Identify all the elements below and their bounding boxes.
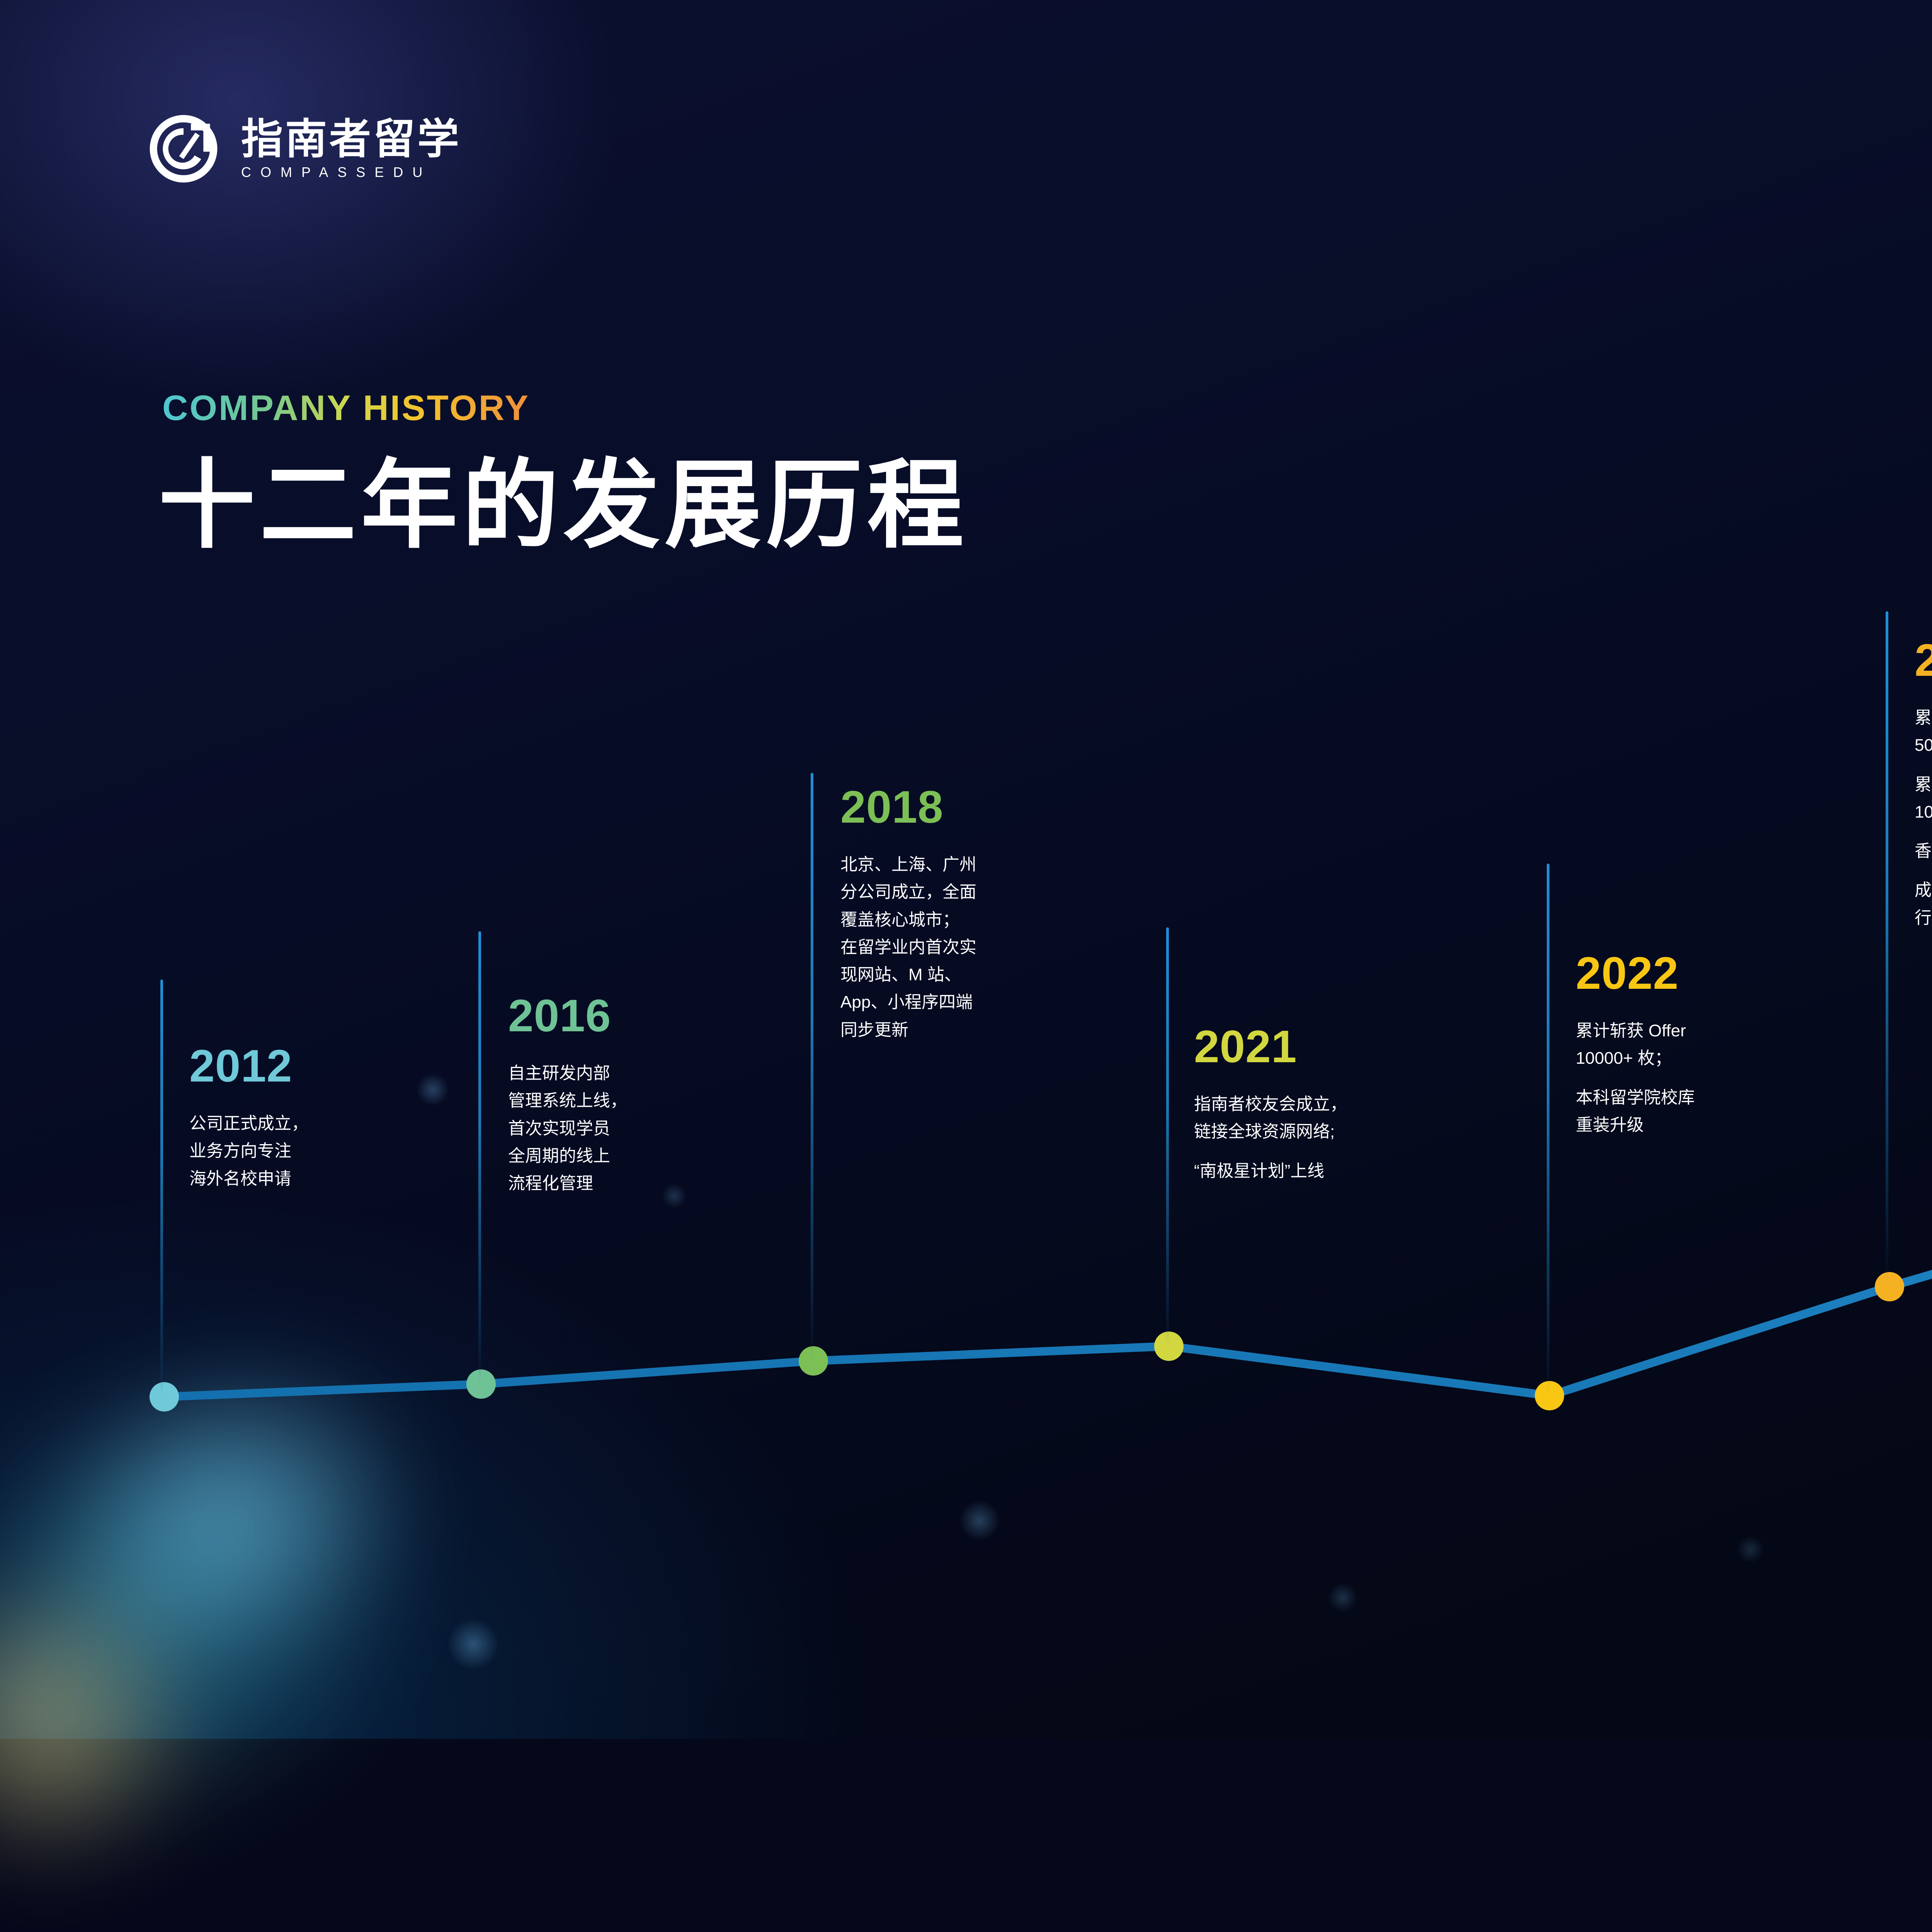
milestone-year-2022: 2022 (1576, 951, 1695, 996)
milestone-text-line: 50 万 + 人； (1915, 731, 1932, 759)
paragraph-gap (1576, 1072, 1695, 1084)
milestone-text-line: 成为北京留学服务 (1915, 876, 1932, 904)
milestone-year-2021: 2021 (1194, 1024, 1347, 1070)
star-spark (1731, 1530, 1770, 1569)
milestone-text-line: 北京、上海、广州 (840, 851, 976, 878)
milestone-text-line: 全周期的线上 (508, 1142, 627, 1170)
milestone-body: 2022 累计斩获 Offer10000+ 枚；本科留学院校库重装升级 (1576, 951, 1695, 1139)
chart-marker-2018[interactable] (799, 1346, 828, 1376)
section-eyebrow: COMPANY HISTORY (162, 390, 530, 426)
brand-name-en: COMPASSEDU (241, 165, 461, 179)
chart-marker-2016[interactable] (466, 1369, 496, 1399)
star-spark (657, 1179, 692, 1213)
paragraph-gap (1915, 826, 1932, 837)
milestone-description-2022: 累计斩获 Offer10000+ 枚；本科留学院校库重装升级 (1576, 1017, 1695, 1139)
milestone-description-2012: 公司正式成立，业务方向专注海外名校申请 (189, 1110, 308, 1192)
chart-marker-2021[interactable] (1154, 1332, 1184, 1361)
milestone-year-2012: 2012 (189, 1043, 308, 1089)
milestone-text-line: 同步更新 (840, 1016, 976, 1044)
milestone-text-line: 指南者校友会成立， (1194, 1090, 1347, 1118)
paragraph-gap (1194, 1146, 1347, 1157)
brand-logo: 指南者留学 COMPASSEDU (147, 112, 461, 185)
milestone-text-line: 业务方向专注 (189, 1137, 308, 1165)
milestone-year-2018: 2018 (840, 784, 976, 830)
milestone-text-line: 累计服务人数突破 (1915, 771, 1932, 798)
milestone-text-line: 在留学业内首次实 (840, 934, 976, 961)
milestone-connector-rule-2022 (1547, 864, 1549, 1396)
milestone-body: 2016 自主研发内部管理系统上线，首次实现学员全周期的线上流程化管理 (508, 993, 627, 1197)
milestone-text-line: 分公司成立，全面 (840, 878, 976, 906)
aurora-glow-bottom-left (0, 1222, 605, 1932)
milestone-text-line: 累计注册用户突破 (1915, 704, 1932, 731)
milestone-text-line: 10000+ 枚； (1576, 1044, 1695, 1072)
milestone-text-line: 首次实现学员 (508, 1115, 627, 1142)
brand-name-cn: 指南者留学 (241, 118, 461, 160)
milestone-text-line: 行业协会会员单位 (1915, 904, 1932, 932)
milestone-body: 2021 指南者校友会成立，链接全球资源网络;“南极星计划”上线 (1194, 1024, 1347, 1185)
star-spark (437, 1607, 510, 1681)
milestone-connector-rule-2012 (160, 980, 163, 1397)
milestone-text-line: 自主研发内部 (508, 1060, 627, 1087)
milestone-text-line: 覆盖核心城市； (840, 906, 976, 934)
milestone-connector-rule-2018 (811, 773, 813, 1361)
chart-marker-2012[interactable] (150, 1382, 179, 1412)
milestone-text-line: App、小程序四端 (840, 988, 976, 1016)
milestone-text-line: 现网站、M 站、 (840, 961, 976, 988)
milestone-description-2021: 指南者校友会成立，链接全球资源网络;“南极星计划”上线 (1194, 1090, 1347, 1185)
milestone-description-2023: 累计注册用户突破50 万 + 人；累计服务人数突破10000+ 人；香港分公司成… (1915, 704, 1932, 932)
milestone-connector-rule-2023 (1886, 611, 1888, 1287)
milestone-body: 2012 公司正式成立，业务方向专注海外名校申请 (189, 1043, 308, 1192)
star-spark (1321, 1577, 1364, 1619)
milestone-text-line: 香港分公司成立； (1915, 837, 1932, 865)
milestone-text-line: 海外名校申请 (189, 1165, 308, 1192)
milestone-description-2018: 北京、上海、广州分公司成立，全面覆盖核心城市；在留学业内首次实现网站、M 站、A… (840, 851, 976, 1044)
star-spark (410, 1066, 456, 1113)
milestone-body: 2023 累计注册用户突破50 万 + 人；累计服务人数突破10000+ 人；香… (1915, 638, 1932, 932)
milestone-connector-rule-2016 (478, 931, 481, 1384)
milestone-year-2016: 2016 (508, 993, 627, 1039)
milestone-text-line: 链接全球资源网络; (1194, 1118, 1347, 1145)
milestone-connector-rule-2021 (1166, 927, 1169, 1346)
chart-marker-2022[interactable] (1535, 1381, 1564, 1410)
paragraph-gap (1915, 865, 1932, 876)
milestone-text-line: 重装升级 (1576, 1111, 1695, 1139)
milestone-body: 2018 北京、上海、广州分公司成立，全面覆盖核心城市；在留学业内首次实现网站、… (840, 784, 976, 1044)
milestone-description-2016: 自主研发内部管理系统上线，首次实现学员全周期的线上流程化管理 (508, 1060, 627, 1197)
milestone-text-line: 10000+ 人； (1915, 798, 1932, 826)
slide-canvas: 指南者留学 COMPASSEDU COMPANY HISTORY 十二年的发展历… (0, 0, 1932, 1739)
milestone-text-line: 本科留学院校库 (1576, 1084, 1695, 1111)
milestone-text-line: 累计斩获 Offer (1576, 1017, 1695, 1044)
page-title: 十二年的发展历程 (158, 452, 968, 558)
compass-ring-logo-icon (147, 112, 220, 185)
chart-marker-2023[interactable] (1875, 1272, 1904, 1301)
milestone-text-line: 公司正式成立， (189, 1110, 308, 1137)
milestone-text-line: 流程化管理 (508, 1170, 627, 1197)
milestone-text-line: 管理系统上线， (508, 1087, 627, 1114)
milestone-text-line: “南极星计划”上线 (1194, 1157, 1347, 1185)
milestone-year-2023: 2023 (1915, 638, 1932, 683)
star-spark (951, 1492, 1009, 1549)
paragraph-gap (1915, 759, 1932, 771)
